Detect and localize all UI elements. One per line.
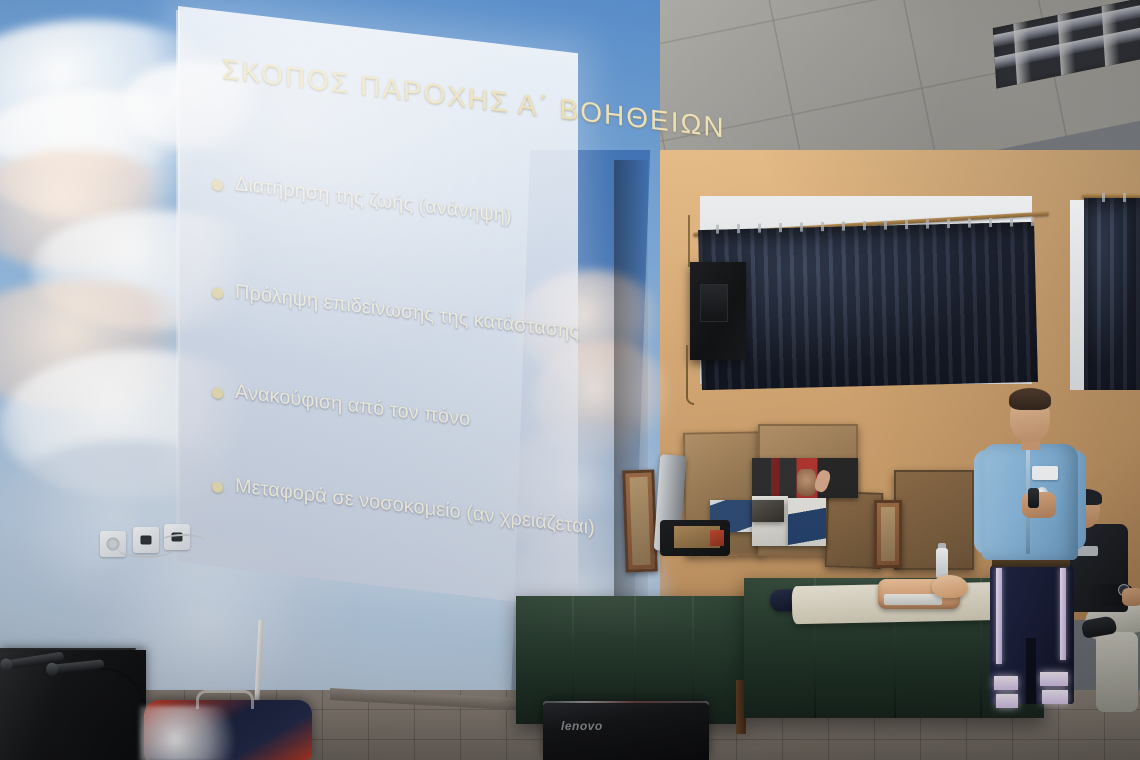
- speaker-grill-icon: [700, 284, 728, 322]
- reflective-band: [1042, 690, 1068, 704]
- presentation-remote[interactable]: [1028, 488, 1039, 508]
- window-curtain-right[interactable]: [1084, 198, 1140, 390]
- red-box: [710, 530, 724, 546]
- speaker-cable: [686, 345, 694, 405]
- reflective-band: [994, 676, 1018, 690]
- slide-bullet-text: Διατήρηση της ζωής (ανάνηψη): [235, 173, 512, 229]
- seated-leg: [1096, 632, 1138, 712]
- photo-collage-poster: [752, 458, 858, 498]
- slide-bullet-text: Πρόληψη επιδείνωσης της κατάστασης: [235, 281, 579, 345]
- lenovo-logo: lenovo: [561, 719, 603, 733]
- outlet-cable: [160, 534, 206, 550]
- photo-print-dark: [752, 500, 784, 522]
- wooden-frame-small: [874, 500, 902, 568]
- slide-bullet: Ανακούφιση από τον πόνο: [212, 378, 470, 431]
- window-curtain-left[interactable]: [698, 222, 1038, 390]
- seated-hand: [1122, 588, 1140, 606]
- bullet-marker-icon: [212, 481, 223, 493]
- instructor-standing: [968, 392, 1094, 712]
- water-bottle: [936, 548, 948, 578]
- reflective-stripe: [996, 568, 1002, 664]
- bullet-marker-icon: [212, 287, 223, 299]
- frame-inner: [881, 507, 895, 561]
- reflective-band: [1040, 672, 1068, 686]
- slide-bullet: Μεταφορά σε νοσοκομείο (αν χρειάζεται): [212, 472, 595, 540]
- bullet-marker-icon: [212, 179, 223, 191]
- reflective-stripe: [1060, 568, 1066, 660]
- presenter-laptop[interactable]: lenovo: [543, 703, 709, 760]
- projection-screen: ΣΚΟΠΟΣ ΠΑΡΟΧΗΣ Α΄ ΒΟΗΘΕΙΩΝ Διατήρηση της…: [178, 6, 578, 613]
- slide-title: ΣΚΟΠΟΣ ΠΑΡΟΧΗΣ Α΄ ΒΟΗΘΕΙΩΝ: [222, 53, 582, 127]
- flash-glare: [140, 706, 258, 760]
- instructor-hair: [1009, 388, 1051, 410]
- slide-bullet-text: Ανακούφιση από τον πόνο: [235, 381, 470, 432]
- photo-print-small: [788, 498, 826, 546]
- speaker-cable: [688, 215, 694, 267]
- projection-edge: [176, 10, 180, 550]
- manikin-chest-panel: [884, 594, 942, 605]
- collage-face: [797, 469, 816, 495]
- slide-bullet: Πρόληψη επιδείνωσης της κατάστασης: [212, 278, 579, 344]
- reflective-band: [996, 694, 1018, 708]
- instructor-leg-gap: [1026, 638, 1036, 704]
- projected-slide: ΣΚΟΠΟΣ ΠΑΡΟΧΗΣ Α΄ ΒΟΗΘΕΙΩΝ Διατήρηση της…: [178, 6, 578, 609]
- cork-board-right: [894, 470, 974, 570]
- wooden-frame-left: [622, 469, 658, 572]
- manikin-head: [932, 575, 968, 598]
- slide-bullet: Διατήρηση της ζωής (ανάνηψη): [212, 170, 512, 228]
- bullet-marker-icon: [212, 387, 223, 399]
- frame-inner: [629, 477, 650, 566]
- wall-mounted-speaker: [690, 262, 746, 360]
- photo-scene: ΣΚΟΠΟΣ ΠΑΡΟΧΗΣ Α΄ ΒΟΗΘΕΙΩΝ Διατήρηση της…: [0, 0, 1140, 760]
- curtain-hooks: [1084, 193, 1140, 202]
- slide-bullet-text: Μεταφορά σε νοσοκομείο (αν χρειάζεται): [235, 475, 595, 540]
- name-badge: [1032, 466, 1058, 480]
